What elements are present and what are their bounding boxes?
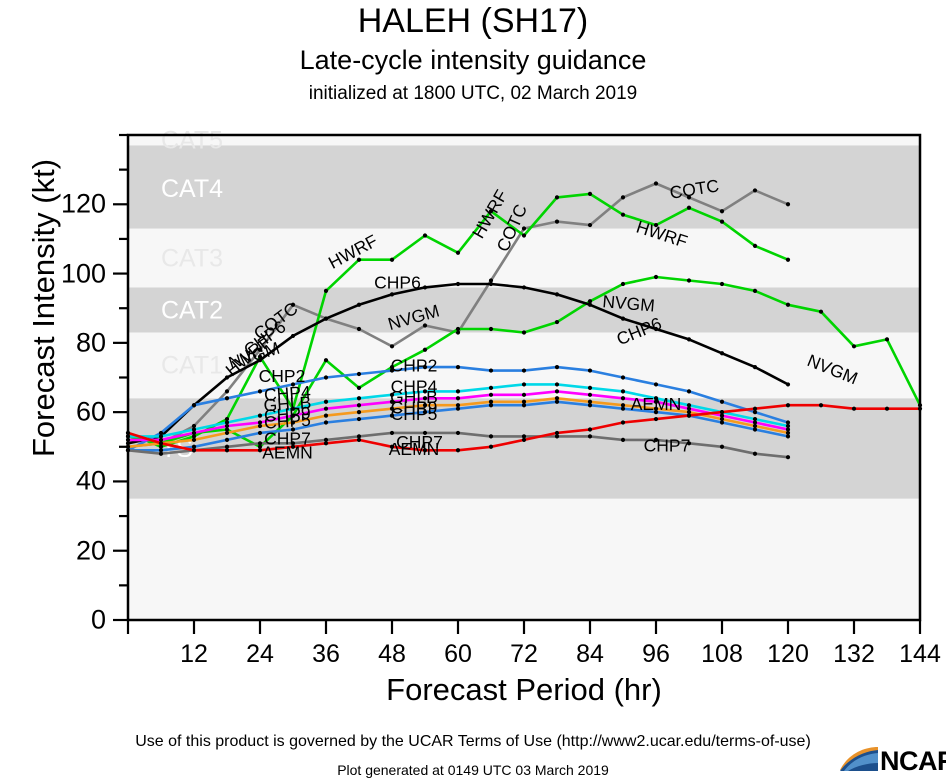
series-label-chp2: CHP2 — [259, 366, 306, 386]
category-bands — [128, 135, 920, 620]
category-label-cat4: CAT4 — [161, 175, 223, 203]
series-label-chp7: CHP7 — [644, 435, 691, 455]
series-marker — [588, 400, 592, 404]
series-marker — [588, 386, 592, 390]
series-marker — [489, 282, 493, 286]
series-marker — [522, 393, 526, 397]
category-band-cat1 — [128, 332, 920, 398]
series-line-hwrf — [128, 194, 788, 447]
series-line-chp2 — [128, 367, 788, 450]
series-marker — [390, 400, 394, 404]
series-marker — [423, 448, 427, 452]
series-marker — [654, 327, 658, 331]
series-marker — [225, 431, 229, 435]
series-marker — [324, 317, 328, 321]
series-marker — [423, 365, 427, 369]
series-inline-labels: COTCCOTCCOTCHWRFHWRFHWRFHWRFNVGMNVGMNVGM… — [222, 175, 861, 462]
series-marker — [357, 396, 361, 400]
series-marker — [753, 289, 757, 293]
series-label-chp5: CHP5 — [391, 404, 438, 424]
series-marker — [423, 389, 427, 393]
series-marker — [786, 258, 790, 262]
series-marker — [258, 389, 262, 393]
series-marker — [357, 410, 361, 414]
series-marker — [126, 431, 130, 435]
data-series-group — [126, 181, 922, 459]
series-marker — [588, 427, 592, 431]
series-marker — [687, 414, 691, 418]
series-marker — [555, 292, 559, 296]
series-marker — [390, 344, 394, 348]
series-marker — [555, 400, 559, 404]
x-tick-label: 120 — [767, 640, 809, 669]
series-marker — [522, 368, 526, 372]
series-marker — [654, 181, 658, 185]
series-label-aemn: AEMN — [262, 442, 313, 462]
series-marker — [588, 299, 592, 303]
series-marker — [390, 258, 394, 262]
series-marker — [225, 448, 229, 452]
series-marker — [357, 386, 361, 390]
series-marker — [720, 400, 724, 404]
y-tick-label: 20 — [20, 535, 106, 566]
series-marker — [456, 448, 460, 452]
series-marker — [225, 438, 229, 442]
series-marker — [291, 420, 295, 424]
series-marker — [390, 292, 394, 296]
series-marker — [852, 407, 856, 411]
y-tick-label: 80 — [20, 327, 106, 358]
series-marker — [423, 348, 427, 352]
category-band-cat4 — [128, 145, 920, 228]
series-marker — [126, 431, 130, 435]
series-marker — [324, 375, 328, 379]
series-marker — [852, 344, 856, 348]
series-marker — [720, 351, 724, 355]
series-marker — [456, 396, 460, 400]
series-marker — [786, 403, 790, 407]
series-marker — [291, 414, 295, 418]
series-marker — [522, 400, 526, 404]
series-marker — [423, 396, 427, 400]
series-marker — [720, 220, 724, 224]
series-marker — [489, 400, 493, 404]
series-marker — [126, 441, 130, 445]
series-marker — [456, 282, 460, 286]
series-marker — [885, 337, 889, 341]
series-marker — [390, 407, 394, 411]
series-marker — [357, 372, 361, 376]
series-marker — [687, 441, 691, 445]
series-marker — [753, 407, 757, 411]
series-marker — [588, 223, 592, 227]
series-marker — [753, 244, 757, 248]
series-chp7 — [126, 431, 790, 459]
series-marker — [654, 407, 658, 411]
series-marker — [786, 455, 790, 459]
series-marker — [258, 445, 262, 449]
series-marker — [258, 448, 262, 452]
series-marker — [456, 330, 460, 334]
series-label-cotc: COTC — [493, 201, 531, 254]
series-marker — [291, 407, 295, 411]
series-label-hwrf: HWRF — [634, 217, 690, 252]
series-marker — [456, 365, 460, 369]
series-marker — [687, 206, 691, 210]
series-marker — [159, 441, 163, 445]
y-tick-label: 120 — [20, 189, 106, 220]
series-marker — [621, 403, 625, 407]
series-label-chp6: CHP6 — [614, 313, 665, 349]
series-marker — [687, 407, 691, 411]
series-marker — [720, 420, 724, 424]
category-label-cat2: CAT2 — [161, 296, 223, 324]
series-marker — [324, 407, 328, 411]
series-marker — [522, 438, 526, 442]
series-marker — [192, 431, 196, 435]
series-label-chp2: CHP2 — [391, 356, 438, 376]
y-tick-label: 60 — [20, 397, 106, 428]
series-marker — [621, 396, 625, 400]
initialized-time: initialized at 1800 UTC, 02 March 2019 — [0, 74, 946, 103]
title-block: HALEH (SH17) Late-cycle intensity guidan… — [0, 0, 946, 103]
series-line-chp6 — [128, 284, 788, 443]
series-marker — [621, 407, 625, 411]
series-marker — [423, 403, 427, 407]
series-marker — [126, 445, 130, 449]
series-marker — [324, 420, 328, 424]
series-marker — [456, 389, 460, 393]
series-marker — [258, 358, 262, 362]
series-marker — [786, 431, 790, 435]
series-marker — [753, 188, 757, 192]
series-marker — [555, 389, 559, 393]
x-tick-label: 12 — [180, 640, 208, 669]
series-marker — [357, 327, 361, 331]
series-marker — [258, 414, 262, 418]
series-marker — [423, 410, 427, 414]
series-label-nvgm: NVGM — [804, 350, 860, 388]
series-marker — [291, 445, 295, 449]
series-marker — [225, 417, 229, 421]
series-marker — [621, 195, 625, 199]
series-marker — [357, 438, 361, 442]
series-marker — [555, 382, 559, 386]
series-marker — [357, 258, 361, 262]
series-marker — [621, 317, 625, 321]
category-label-ts: TS — [161, 435, 193, 463]
series-marker — [324, 441, 328, 445]
series-marker — [489, 403, 493, 407]
series-marker — [324, 358, 328, 362]
series-marker — [687, 278, 691, 282]
series-marker — [522, 233, 526, 237]
series-marker — [753, 410, 757, 414]
series-marker — [192, 448, 196, 452]
series-label-nvgm: NVGM — [226, 338, 282, 373]
series-marker — [522, 226, 526, 230]
series-label-hwrf: HWRF — [222, 331, 275, 380]
series-label-hwrf: HWRF — [468, 186, 512, 241]
series-marker — [126, 448, 130, 452]
series-marker — [159, 441, 163, 445]
series-marker — [555, 195, 559, 199]
series-line-nvgm — [128, 277, 920, 447]
series-marker — [720, 209, 724, 213]
series-marker — [489, 434, 493, 438]
series-marker — [918, 407, 922, 411]
series-line-chp9 — [128, 398, 788, 447]
series-marker — [225, 420, 229, 424]
series-label-chp4: CHP4 — [391, 377, 438, 397]
x-tick-label: 132 — [833, 640, 875, 669]
y-tick-label: 100 — [20, 258, 106, 289]
series-label-chp7: CHP7 — [264, 428, 311, 448]
x-tick-label: 144 — [899, 640, 941, 669]
series-marker — [390, 368, 394, 372]
y-tick-label: 0 — [20, 605, 106, 636]
series-marker — [291, 407, 295, 411]
series-marker — [126, 448, 130, 452]
series-marker — [786, 420, 790, 424]
series-marker — [588, 393, 592, 397]
series-marker — [324, 400, 328, 404]
series-nvgm — [126, 275, 922, 449]
terms-of-use-text: Use of this product is governed by the U… — [0, 733, 946, 751]
series-label-chp4: CHP4 — [263, 382, 311, 405]
series-marker — [291, 414, 295, 418]
series-marker — [555, 320, 559, 324]
series-marker — [159, 431, 163, 435]
series-marker — [819, 403, 823, 407]
series-label-ghlb: GHLB — [263, 392, 312, 415]
series-marker — [489, 209, 493, 213]
series-marker — [687, 410, 691, 414]
series-marker — [192, 448, 196, 452]
series-marker — [258, 441, 262, 445]
series-ghlb — [126, 389, 790, 442]
series-label-hwrf: HWRF — [325, 230, 381, 272]
series-marker — [192, 434, 196, 438]
series-label-chp6: CHP6 — [240, 316, 290, 360]
x-tick-label: 108 — [701, 640, 743, 669]
category-band-labels: TSCAT1CAT2CAT3CAT4CAT5 — [161, 127, 223, 463]
series-marker — [621, 213, 625, 217]
category-label-cat1: CAT1 — [161, 352, 223, 380]
series-marker — [324, 289, 328, 293]
series-marker — [225, 445, 229, 449]
series-marker — [687, 414, 691, 418]
series-marker — [390, 393, 394, 397]
category-band-below-ts — [128, 499, 920, 620]
x-tick-label: 84 — [576, 640, 604, 669]
series-marker — [192, 424, 196, 428]
page-subtitle: Late-cycle intensity guidance — [0, 38, 946, 74]
series-marker — [588, 403, 592, 407]
series-marker — [522, 434, 526, 438]
series-marker — [324, 414, 328, 418]
ncar-logo-text: NCAR — [880, 746, 946, 777]
series-marker — [522, 403, 526, 407]
series-marker — [654, 223, 658, 227]
plot-generated-text: Plot generated at 0149 UTC 03 March 2019 — [0, 762, 946, 778]
series-marker — [522, 330, 526, 334]
series-label-cotc: COTC — [668, 175, 720, 203]
series-marker — [192, 427, 196, 431]
series-marker — [588, 434, 592, 438]
series-line-chp7 — [128, 433, 788, 457]
series-marker — [720, 445, 724, 449]
series-marker — [786, 382, 790, 386]
series-marker — [588, 368, 592, 372]
series-marker — [126, 434, 130, 438]
category-band-cat2 — [128, 287, 920, 332]
series-marker — [753, 420, 757, 424]
series-label-chp7: CHP7 — [396, 432, 443, 452]
series-marker — [522, 285, 526, 289]
series-label-ghlb: GHLB — [390, 387, 438, 407]
series-marker — [291, 303, 295, 307]
series-marker — [918, 403, 922, 407]
x-tick-label: 96 — [642, 640, 670, 669]
series-marker — [654, 417, 658, 421]
series-marker — [654, 400, 658, 404]
series-marker — [159, 445, 163, 449]
series-marker — [390, 431, 394, 435]
series-label-cotc: COTC — [250, 298, 302, 344]
series-marker — [225, 424, 229, 428]
series-chp6 — [126, 282, 790, 446]
plot-background — [128, 135, 920, 620]
series-line-chp4 — [128, 384, 788, 436]
series-label-chp9: CHP9 — [391, 397, 438, 417]
x-tick-label: 36 — [312, 640, 340, 669]
series-marker — [786, 202, 790, 206]
axis-ticks — [113, 135, 920, 634]
y-tick-label: 40 — [20, 466, 106, 497]
series-marker — [258, 431, 262, 435]
series-marker — [291, 441, 295, 445]
x-axis-label: Forecast Period (hr) — [128, 672, 920, 708]
series-marker — [423, 323, 427, 327]
x-tick-label: 60 — [444, 640, 472, 669]
page-title: HALEH (SH17) — [0, 0, 946, 38]
series-label-chp5: CHP5 — [263, 410, 311, 433]
series-marker — [753, 417, 757, 421]
series-marker — [456, 251, 460, 255]
series-marker — [159, 434, 163, 438]
x-tick-label: 48 — [378, 640, 406, 669]
series-marker — [390, 445, 394, 449]
series-chp4 — [126, 382, 790, 438]
series-marker — [753, 427, 757, 431]
series-marker — [687, 337, 691, 341]
series-line-chp5 — [128, 402, 788, 451]
series-aemn — [126, 403, 922, 452]
x-tick-label: 72 — [510, 640, 538, 669]
series-marker — [819, 310, 823, 314]
series-marker — [621, 389, 625, 393]
series-marker — [555, 220, 559, 224]
series-marker — [489, 393, 493, 397]
series-marker — [456, 403, 460, 407]
series-marker — [324, 438, 328, 442]
axis-frame — [128, 135, 920, 620]
series-marker — [225, 375, 229, 379]
series-marker — [357, 417, 361, 421]
category-label-cat5: CAT5 — [161, 127, 223, 155]
series-marker — [720, 414, 724, 418]
ncar-logo: NCAR — [838, 744, 946, 778]
series-chp9 — [126, 396, 790, 449]
series-marker — [720, 410, 724, 414]
series-marker — [126, 445, 130, 449]
series-marker — [192, 403, 196, 407]
category-band-ts — [128, 398, 920, 498]
series-marker — [258, 424, 262, 428]
series-marker — [192, 403, 196, 407]
series-marker — [654, 438, 658, 442]
series-marker — [786, 434, 790, 438]
series-marker — [390, 414, 394, 418]
series-label-chp6: CHP6 — [374, 273, 421, 293]
series-marker — [621, 375, 625, 379]
series-label-nvgm: NVGM — [602, 291, 656, 315]
series-marker — [159, 434, 163, 438]
series-marker — [654, 410, 658, 414]
series-marker — [225, 389, 229, 393]
category-band-cat5 — [128, 135, 920, 145]
series-marker — [753, 365, 757, 369]
x-tick-label: 24 — [246, 640, 274, 669]
series-marker — [621, 282, 625, 286]
series-marker — [786, 303, 790, 307]
series-marker — [687, 389, 691, 393]
series-marker — [687, 195, 691, 199]
series-marker — [423, 233, 427, 237]
series-marker — [555, 396, 559, 400]
series-chp5 — [126, 400, 790, 453]
series-marker — [588, 303, 592, 307]
series-marker — [291, 427, 295, 431]
series-marker — [225, 396, 229, 400]
series-marker — [720, 282, 724, 286]
series-marker — [621, 438, 625, 442]
series-marker — [621, 420, 625, 424]
series-marker — [357, 434, 361, 438]
series-marker — [654, 396, 658, 400]
series-marker — [753, 424, 757, 428]
series-marker — [786, 424, 790, 428]
series-chp2 — [126, 365, 790, 452]
series-marker — [159, 441, 163, 445]
series-label-nvgm: NVGM — [386, 300, 442, 334]
series-marker — [291, 382, 295, 386]
series-marker — [489, 386, 493, 390]
series-marker — [522, 382, 526, 386]
series-marker — [720, 410, 724, 414]
series-marker — [357, 303, 361, 307]
series-marker — [126, 438, 130, 442]
plot-border — [128, 135, 920, 620]
category-band-cat3 — [128, 229, 920, 288]
series-marker — [390, 365, 394, 369]
series-cotc — [126, 181, 790, 448]
series-marker — [192, 438, 196, 442]
series-marker — [258, 355, 262, 359]
series-marker — [192, 445, 196, 449]
series-marker — [489, 445, 493, 449]
